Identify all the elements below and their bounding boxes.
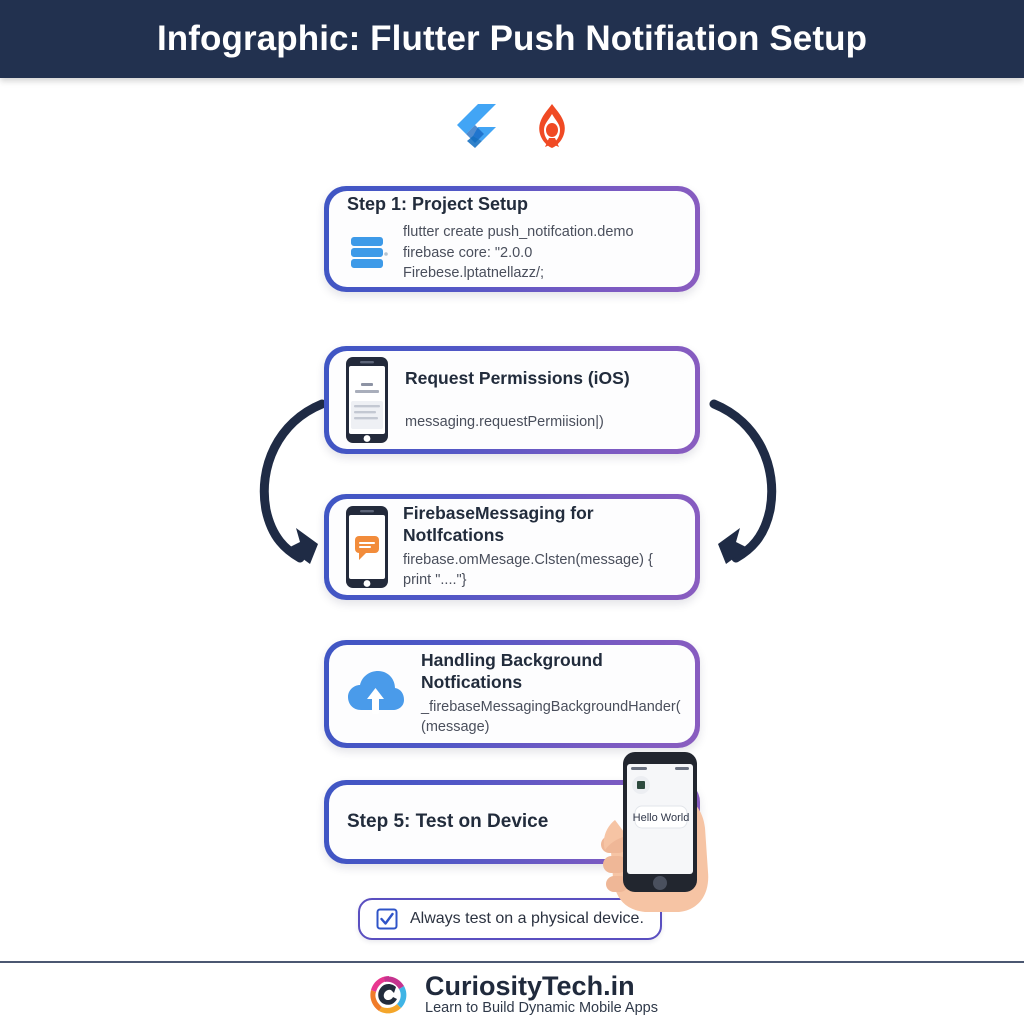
step-2-code: messaging.requestPermiision|)	[405, 412, 681, 433]
checkbox-checked-icon[interactable]	[376, 908, 398, 930]
step-2-title: Request Permissions (iOS)	[405, 368, 681, 390]
infographic-page: Infographic: Flutter Push Notifiation Se…	[0, 0, 1024, 1024]
step-card-2[interactable]: Request Permissions (iOS) messaging.requ…	[324, 346, 700, 454]
step-card-3[interactable]: FirebaseMessaging for Notlfcations fireb…	[324, 494, 700, 600]
curiosity-c-logo-icon	[366, 972, 412, 1018]
note-text: Always test on a physical device.	[410, 910, 644, 928]
steps-flow: Step 1: Project Setup flutter create pus…	[0, 0, 1024, 1024]
page-title: Infographic: Flutter Push Notifiation Se…	[157, 19, 867, 59]
phone-chat-bubble-icon	[343, 504, 391, 590]
phone-screen-message: Hello World	[633, 812, 690, 824]
hand-holding-phone-illustration: Hello World	[575, 752, 725, 912]
phone-permissions-icon	[343, 355, 391, 445]
step-1-title: Step 1: Project Setup	[347, 194, 679, 215]
flow-arrow-right-icon	[692, 392, 792, 567]
database-stack-icon	[347, 232, 389, 272]
step-4-code: _firebaseMessagingBackgroundHander( (mes…	[421, 697, 681, 738]
brand-name: CuriosityTech.in	[425, 972, 658, 1000]
step-3-title: FirebaseMessaging for Notlfcations	[403, 503, 683, 547]
footer-divider	[0, 961, 1024, 963]
step-card-1[interactable]: Step 1: Project Setup flutter create pus…	[324, 186, 700, 292]
step-4-title: Handling Background Notfications	[421, 650, 681, 694]
step-card-4[interactable]: Handling Background Notfications _fireba…	[324, 640, 700, 748]
brand-tagline: Learn to Build Dynamic Mobile Apps	[425, 1000, 658, 1017]
footer: CuriosityTech.in Learn to Build Dynamic …	[0, 965, 1024, 1024]
cloud-upload-icon	[345, 668, 407, 720]
step-1-code: flutter create push_notifcation.demo fir…	[403, 222, 634, 284]
header-bar: Infographic: Flutter Push Notifiation Se…	[0, 0, 1024, 78]
step-3-code: firebase.omMesage.Clsten(message) { prin…	[403, 550, 683, 591]
